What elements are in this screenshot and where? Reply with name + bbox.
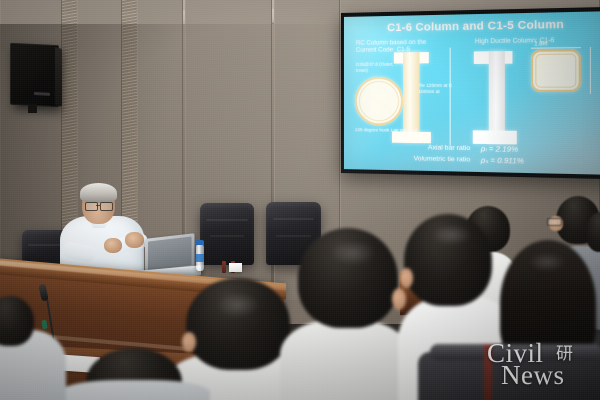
presenter-hand-left: [104, 238, 122, 253]
column-shaft-right: [489, 51, 505, 143]
dimension-line-vertical: [590, 47, 591, 94]
attendee-right-white-ear: [400, 268, 413, 288]
watermark-line-2: News: [501, 360, 565, 391]
dimension-line-vertical: [450, 48, 451, 146]
circular-column-section: [355, 77, 403, 126]
glasses-lens-right: [100, 202, 113, 211]
presentation-slide: C1-6 Column and C1-5 Column RC Column ba…: [344, 11, 600, 175]
chair-seam: [273, 218, 315, 220]
dimension-label-width: 1.8m: [534, 41, 547, 48]
watermark-logo: Civil 研 News: [487, 336, 591, 394]
executive-chair: [200, 203, 254, 265]
water-bottle: [196, 244, 204, 271]
wall-speaker-bracket: [28, 104, 37, 113]
glasses-lens-left: [85, 202, 98, 211]
chair-leg: [222, 261, 226, 273]
chair-seam: [276, 235, 311, 237]
glasses-icon: [85, 202, 112, 209]
bottle-cap: [196, 240, 204, 245]
volumetric-tie-ratio-value: ρₛ = 0.911%: [481, 154, 557, 167]
speaker-badge: [34, 92, 50, 96]
hair-highlight: [216, 292, 260, 318]
attendee-front-center-ear: [392, 288, 406, 310]
wall-speaker-side: [55, 47, 62, 106]
glasses-bridge: [96, 205, 100, 206]
rebar-annotation: D35@37.8 (Outer, Inner): [356, 61, 404, 73]
paper-sheet: [229, 263, 242, 272]
bottle-label: [196, 254, 204, 262]
hair-highlight: [528, 252, 566, 272]
slide-title: C1-6 Column and C1-5 Column: [344, 18, 600, 35]
slide-footer: Axial bar ratio ρₗ = 2.19% Volumetric ti…: [344, 141, 600, 168]
wall-speaker-icon: [10, 43, 59, 108]
volumetric-tie-ratio-label: Volumetric tie ratio: [393, 153, 470, 166]
projection-screen: C1-6 Column and C1-5 Column RC Column ba…: [341, 7, 600, 180]
chair-seam: [206, 219, 247, 221]
photo-scene: C1-6 Column and C1-5 Column RC Column ba…: [0, 0, 600, 400]
hook-annotation: 135 degree hook Lap splice of: [355, 127, 418, 133]
attendee-edge-left-body: [60, 380, 210, 400]
hair-highlight: [330, 240, 376, 266]
presenter-hair: [80, 183, 117, 203]
chair-seam: [210, 235, 245, 237]
presenter-hand-right: [125, 232, 144, 248]
tie-annotation: Tie 120mm at E 100mm at: [419, 83, 469, 95]
square-column-section: [531, 49, 581, 92]
attendee-front-left-ear: [182, 332, 196, 352]
attendee-front-center-body: [280, 320, 410, 400]
hair-highlight: [432, 224, 472, 246]
eyeglasses-icon: [547, 218, 562, 226]
slide-subtitle-right: High Ductile Column: C1-6: [475, 36, 580, 45]
